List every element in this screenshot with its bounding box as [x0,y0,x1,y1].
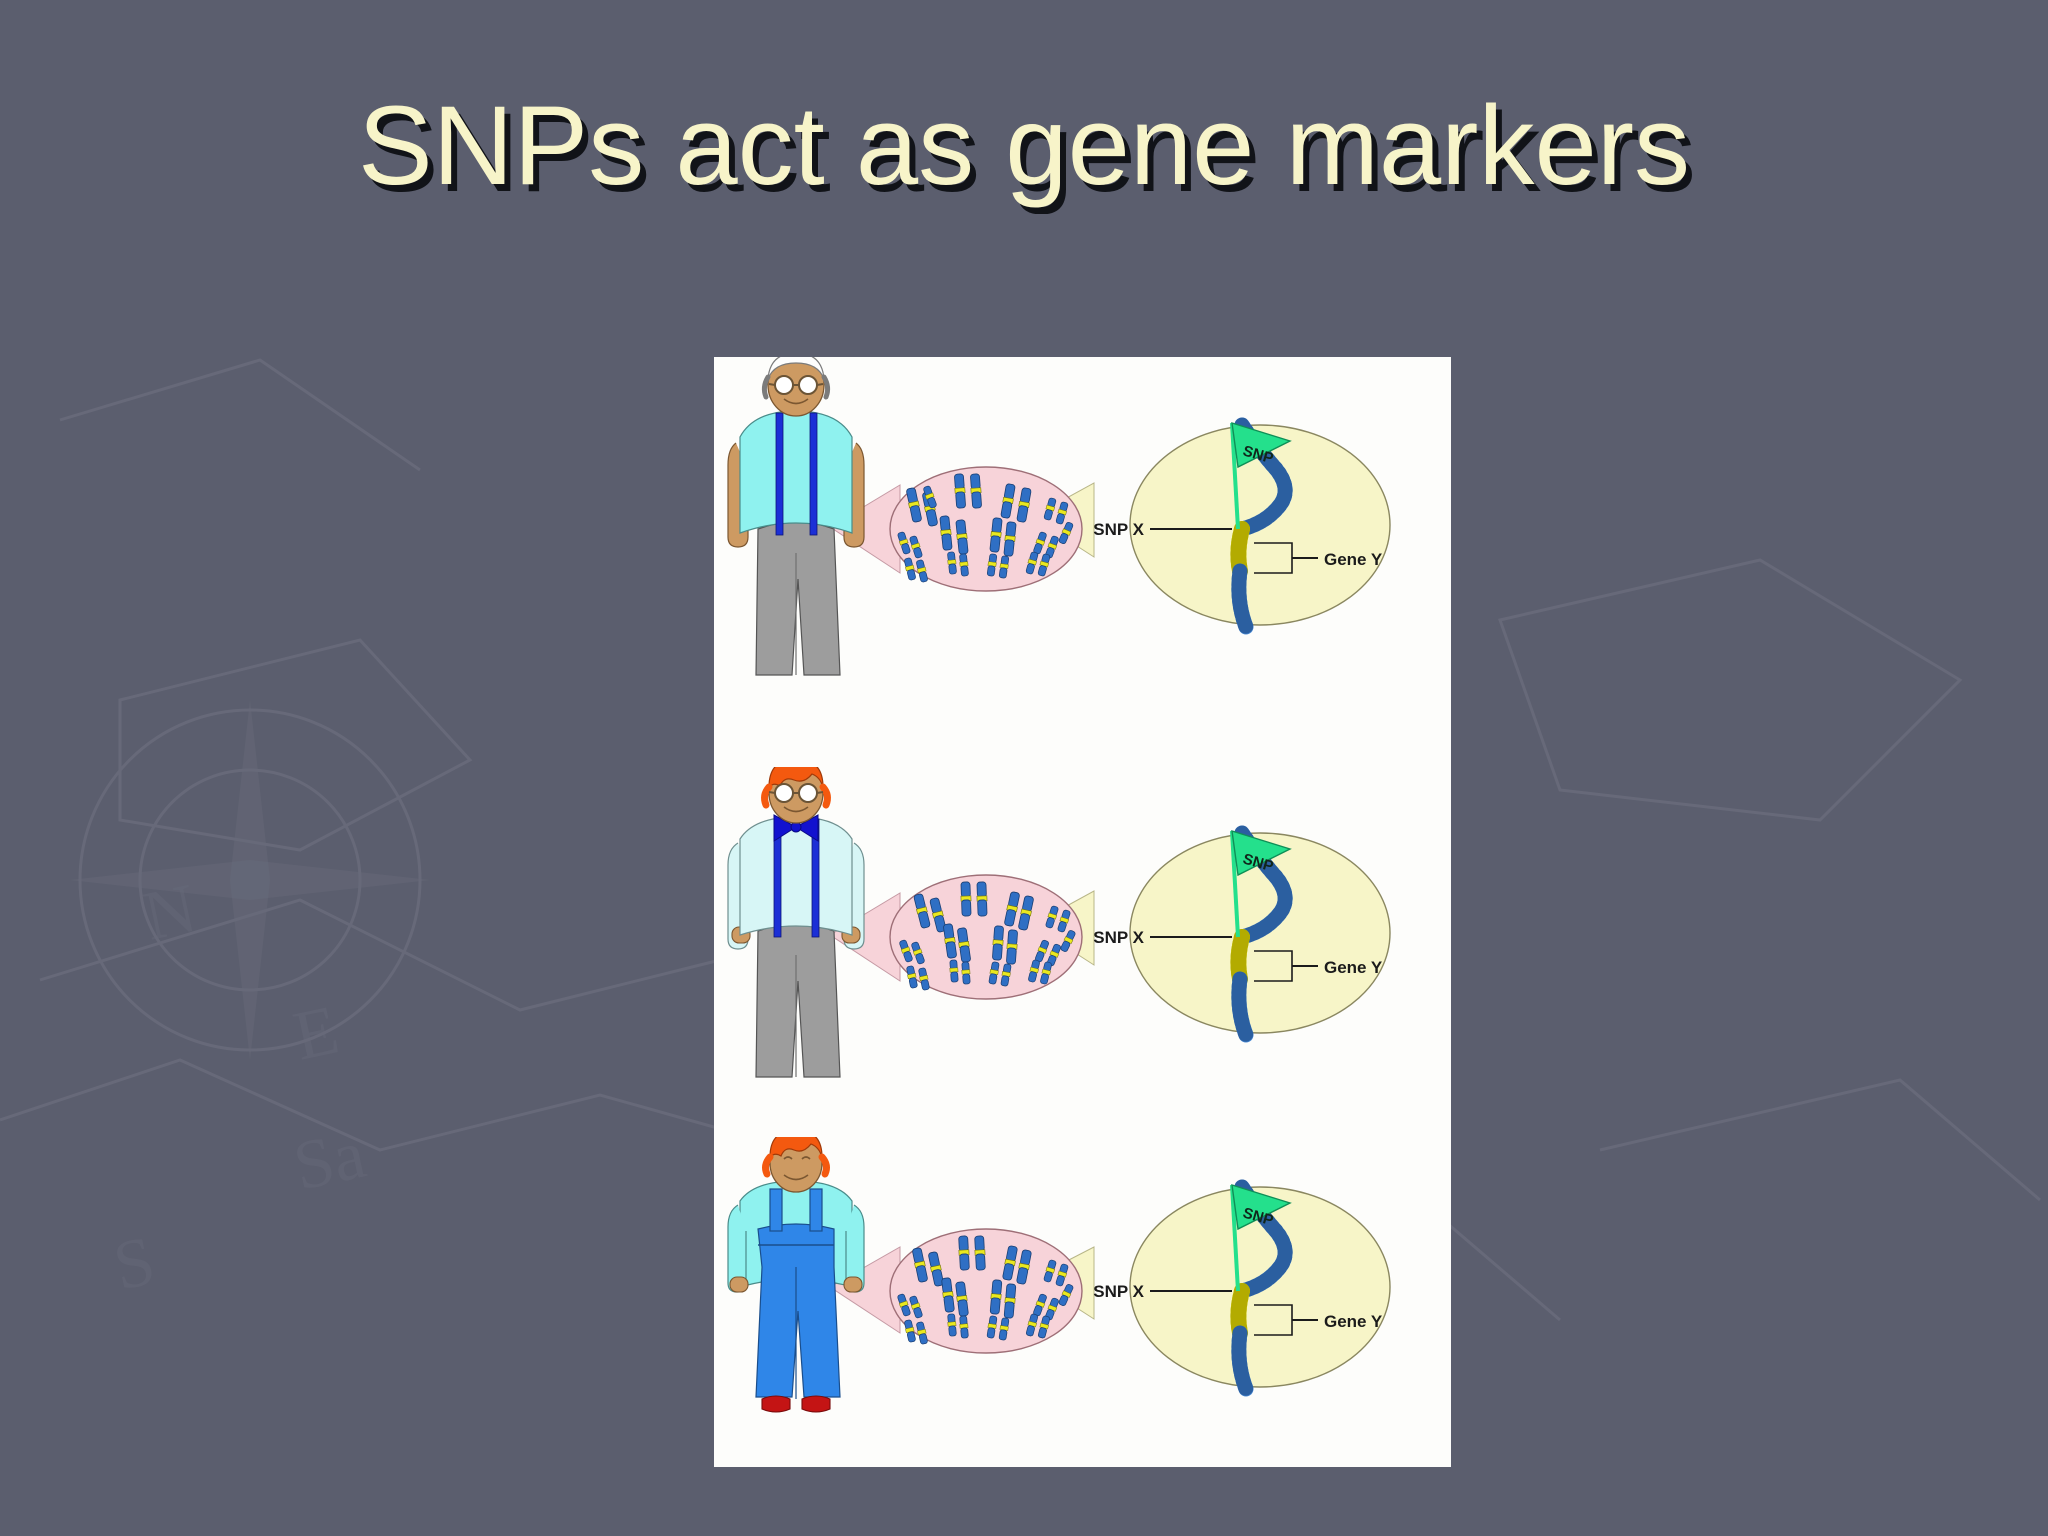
page-title: SNPs act as gene markers [0,86,2048,207]
nucleus-detail: SNP SNP X Gene Y [1093,831,1390,1035]
generation-row-child: SNP SNP X Gene Y [714,1137,1451,1467]
svg-text:E: E [287,991,345,1075]
nucleus-detail: SNP SNP X Gene Y [1093,1185,1390,1389]
snp-x-label: SNP X [1093,928,1144,947]
presentation-slide: S Sa N E SNPs act as gene markers [0,0,2048,1536]
snp-x-label: SNP X [1093,1282,1144,1301]
svg-text:S: S [107,1222,161,1305]
genetics-illustration-panel: SNP SNP X Gene Y [714,357,1451,1467]
gene-y-label: Gene Y [1324,1312,1383,1331]
gene-y-label: Gene Y [1324,958,1383,977]
snp-x-label: SNP X [1093,520,1144,539]
svg-text:N: N [137,870,202,956]
chromosome-spread-cell [890,875,1082,999]
grandfather-figure [728,357,864,675]
generation-row-father: SNP SNP X Gene Y [714,767,1451,1167]
child-figure [728,1137,864,1412]
chromosome-spread-cell [890,1229,1082,1353]
chromosome-spread-cell [890,467,1082,591]
generation-row-grandfather: SNP SNP X Gene Y [714,357,1451,775]
gene-y-label: Gene Y [1324,550,1383,569]
svg-text:Sa: Sa [287,1116,371,1206]
father-figure [728,767,864,1077]
nucleus-detail: SNP SNP X Gene Y [1093,423,1390,627]
